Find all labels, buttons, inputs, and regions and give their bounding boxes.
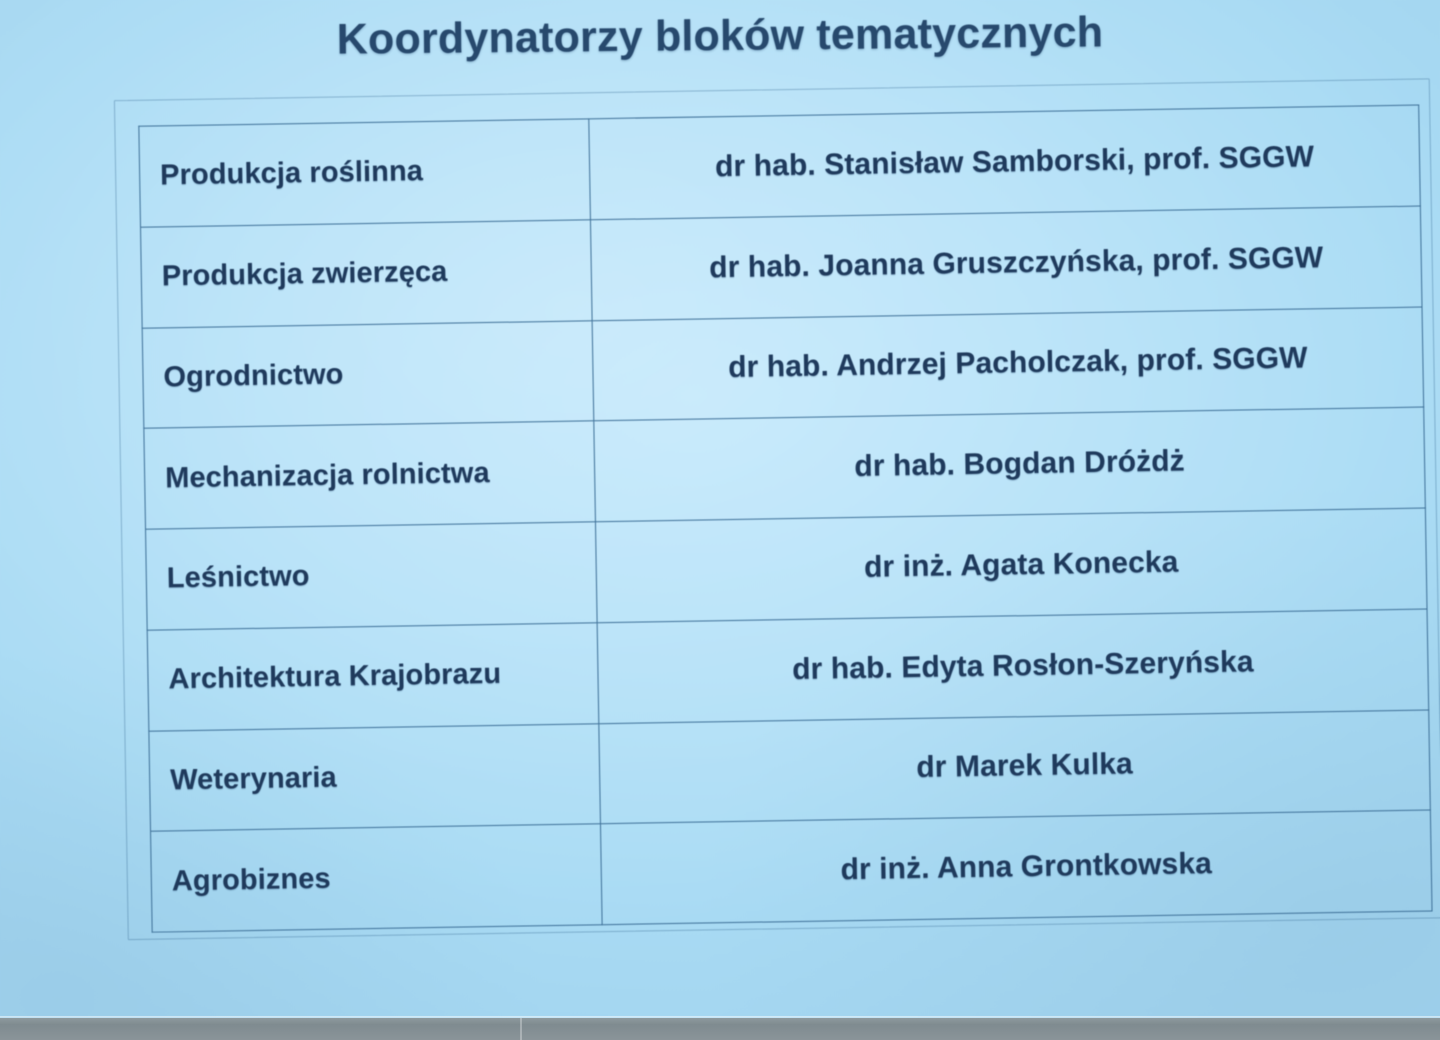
thematic-area-cell: Produkcja roślinna	[139, 119, 591, 227]
coordinator-cell: dr hab. Bogdan Dróżdż	[594, 407, 1426, 521]
page-title: Koordynatorzy bloków tematycznych	[0, 5, 1440, 68]
coordinator-cell: dr hab. Joanna Gruszczyńska, prof. SGGW	[590, 206, 1422, 320]
thematic-area-cell: Ogrodnictwo	[142, 320, 594, 428]
coordinator-cell: dr inż. Agata Konecka	[595, 508, 1427, 622]
coordinators-table: Produkcja roślinna dr hab. Stanisław Sam…	[138, 105, 1432, 933]
thematic-area-cell: Agrobiznes	[151, 824, 603, 932]
coordinator-cell: dr hab. Andrzej Pacholczak, prof. SGGW	[592, 307, 1424, 421]
table-container: Produkcja roślinna dr hab. Stanisław Sam…	[126, 85, 1432, 932]
thematic-area-cell: Produkcja zwierzęca	[141, 220, 593, 328]
bottom-surface-seam	[520, 1018, 522, 1040]
coordinator-cell: dr inż. Anna Grontkowska	[600, 810, 1432, 924]
table-body: Produkcja roślinna dr hab. Stanisław Sam…	[139, 105, 1432, 932]
bottom-surface-bar	[0, 1018, 1440, 1040]
coordinator-cell: dr hab. Stanisław Samborski, prof. SGGW	[589, 105, 1421, 219]
thematic-area-cell: Architektura Krajobrazu	[147, 623, 599, 731]
coordinator-cell: dr hab. Edyta Rosłon-Szeryńska	[597, 609, 1429, 723]
thematic-area-cell: Weterynaria	[149, 723, 601, 831]
thematic-area-cell: Leśnictwo	[146, 522, 598, 630]
table-row: Agrobiznes dr inż. Anna Grontkowska	[151, 810, 1432, 932]
coordinator-cell: dr Marek Kulka	[599, 709, 1431, 823]
slide-photo: Koordynatorzy bloków tematycznych Produk…	[0, 0, 1440, 1040]
thematic-area-cell: Mechanizacja rolnictwa	[144, 421, 596, 529]
